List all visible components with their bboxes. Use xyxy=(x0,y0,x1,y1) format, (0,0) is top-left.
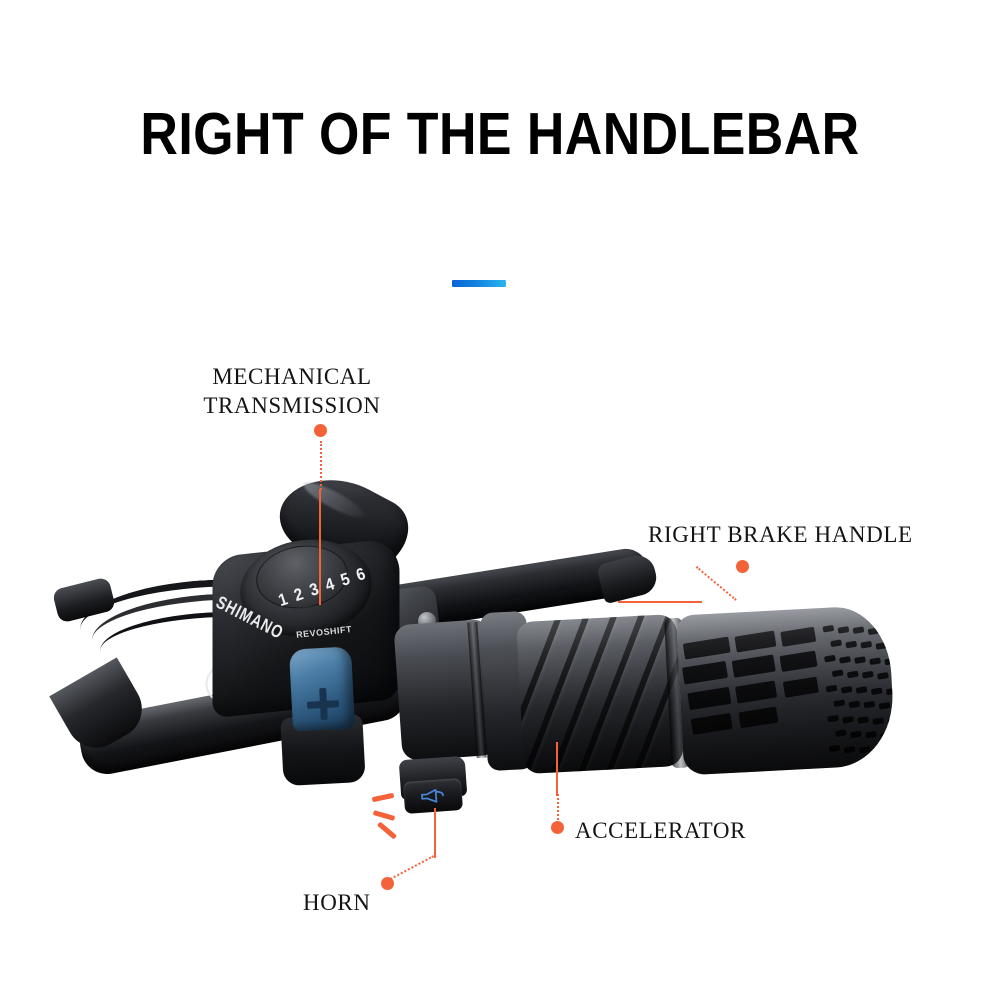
callout-marker-horn xyxy=(381,877,394,890)
callout-label-mechanical-transmission: MECHANICAL TRANSMISSION xyxy=(192,362,392,421)
leader-line-mechanical-transmission xyxy=(319,489,321,605)
leader-line-accelerator xyxy=(556,742,558,796)
leader-line-right-brake-handle xyxy=(618,601,702,603)
horn-icon xyxy=(420,787,447,804)
callout-marker-accelerator xyxy=(551,821,564,834)
callout-label-accelerator: ACCELERATOR xyxy=(575,816,746,845)
accelerator-throttle-grip[interactable] xyxy=(516,614,684,774)
leader-line-horn xyxy=(434,808,436,858)
callout-label-right-brake-handle: RIGHT BRAKE HANDLE xyxy=(648,520,913,549)
callout-label-line-1: MECHANICAL xyxy=(192,362,392,391)
section-divider xyxy=(452,280,506,287)
page-title: RIGHT OF THE HANDLEBAR xyxy=(60,100,940,168)
rubber-hand-grip xyxy=(676,605,896,776)
leader-dotted-accelerator xyxy=(557,794,559,820)
callout-marker-right-brake-handle xyxy=(736,560,749,573)
handlebar-photo: SHIMANO 1 2 3 4 5 6 REVOSHIFT xyxy=(0,440,1000,900)
callout-label-line-2: TRANSMISSION xyxy=(192,391,392,420)
infographic-page: RIGHT OF THE HANDLEBAR SHIMANO 1 2 3 4 5… xyxy=(0,0,1000,1000)
plus-icon xyxy=(306,687,340,721)
leader-dotted-mechanical-transmission xyxy=(320,441,322,490)
callout-marker-mechanical-transmission xyxy=(314,424,327,437)
callout-label-horn: HORN xyxy=(303,888,371,917)
